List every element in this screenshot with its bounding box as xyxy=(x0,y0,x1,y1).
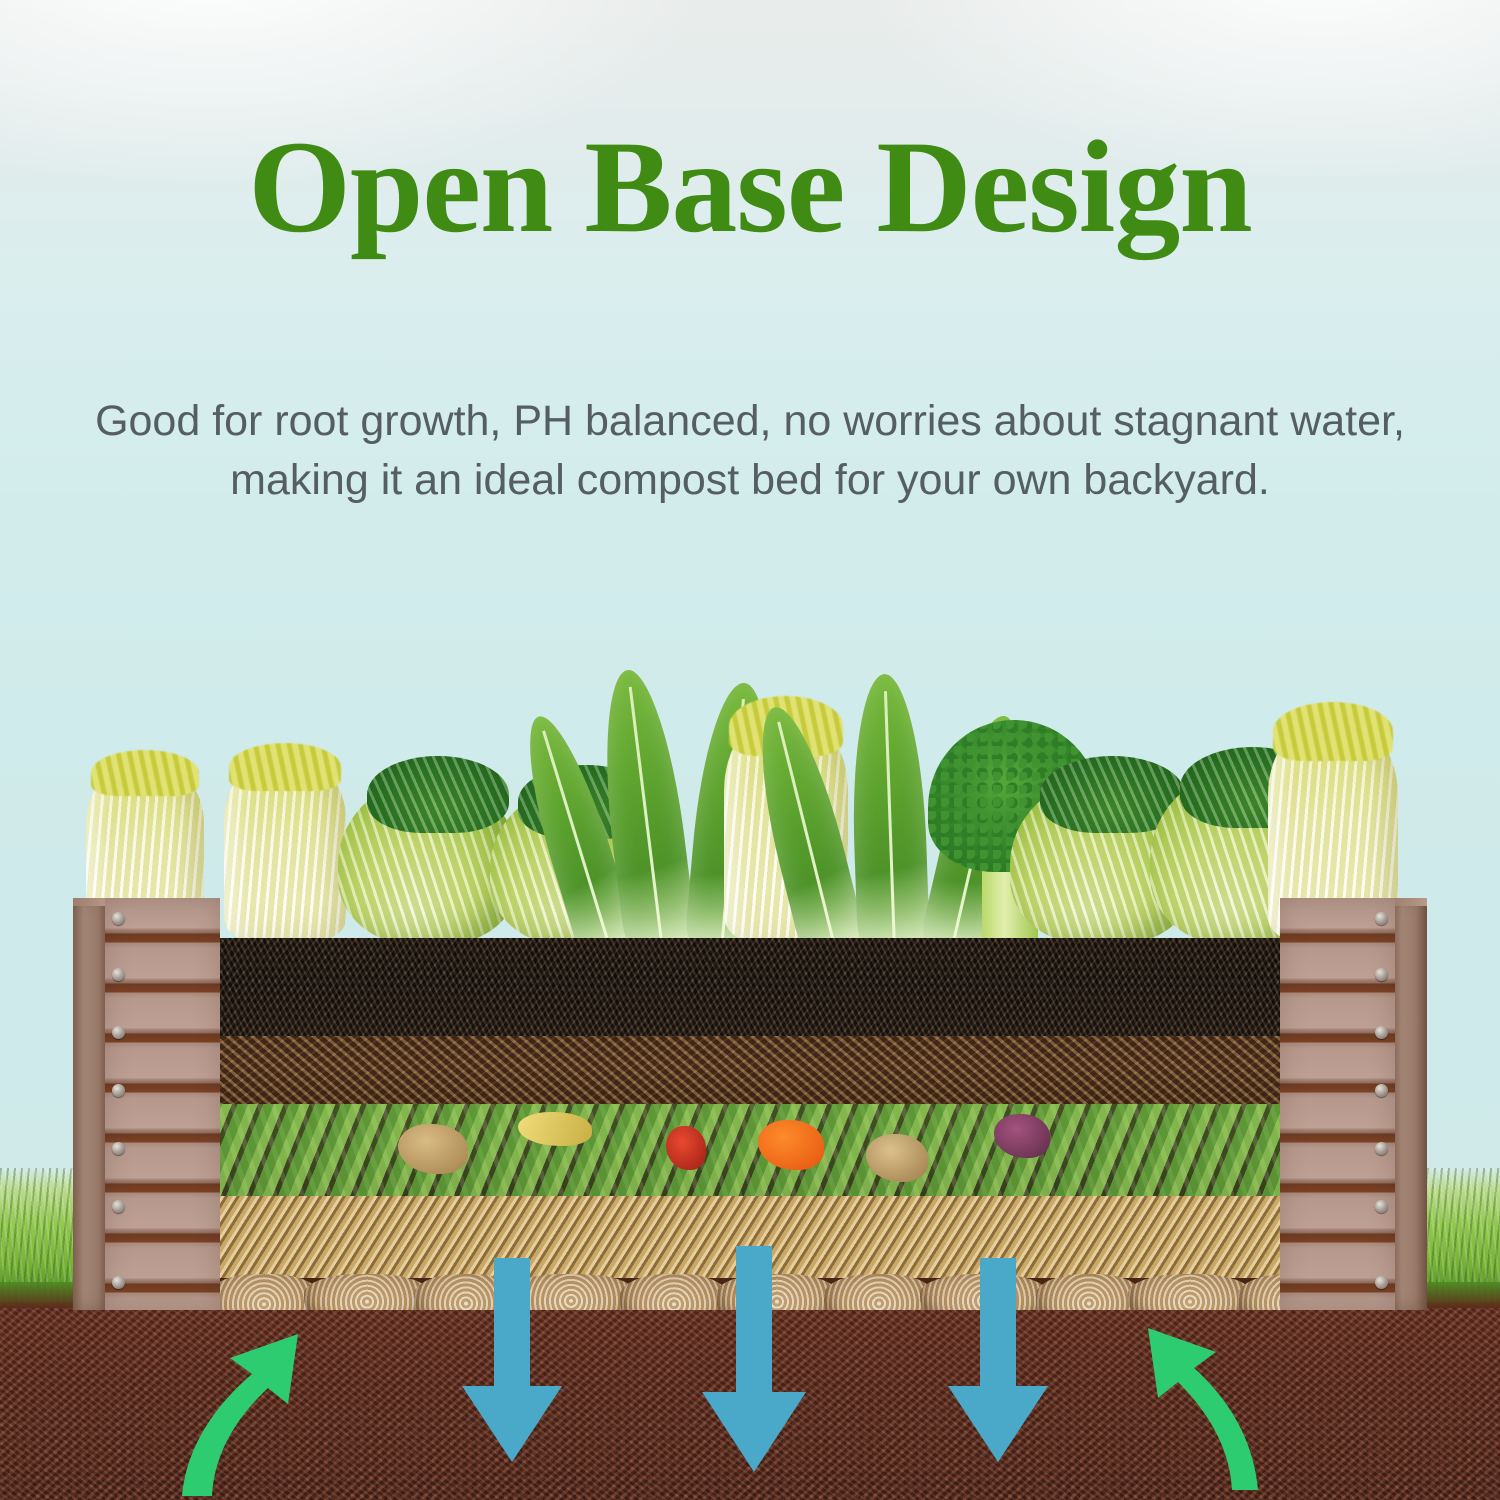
water-down-arrow-icon xyxy=(452,1258,572,1468)
page-subtitle: Good for root growth, PH balanced, no wo… xyxy=(70,392,1430,511)
product-name: metal raised garden bed xyxy=(0,898,1,899)
water-down-arrow-icon xyxy=(692,1246,816,1478)
screw-icon xyxy=(112,968,125,981)
screw-icon xyxy=(112,912,125,925)
screw-icon xyxy=(112,1084,125,1097)
scrap-potato xyxy=(866,1134,928,1182)
arrow-down-label: excess water drains down xyxy=(0,1280,1,1281)
arrow-up-label: nutrients and roots rise up xyxy=(0,1280,1,1281)
post-cap-right xyxy=(1391,898,1427,906)
screw-icon xyxy=(112,1200,125,1213)
vegetable-row-caption: row of leafy vegetables growing in the b… xyxy=(0,620,1,621)
nutrient-up-arrow-icon xyxy=(1112,1294,1282,1494)
subtitle-line-2: making it an ideal compost bed for your … xyxy=(70,451,1430,510)
screw-icon xyxy=(1375,912,1388,925)
screw-icon xyxy=(1375,1200,1388,1213)
water-down-arrow-icon xyxy=(938,1258,1058,1468)
scrap-onion xyxy=(994,1114,1050,1158)
post-cap-left xyxy=(73,898,109,906)
infographic-canvas: Open Base Design Good for root growth, P… xyxy=(0,0,1500,1500)
layer-bark-mulch: bark and wood chip mulch xyxy=(218,1036,1282,1104)
subtitle-line-1: Good for root growth, PH balanced, no wo… xyxy=(70,392,1430,451)
scrap-banana-peel xyxy=(518,1112,592,1146)
layer-kitchen-scraps: kitchen vegetable scraps xyxy=(218,1104,1282,1196)
screw-icon xyxy=(112,1142,125,1155)
bed-corner-post-left xyxy=(73,898,109,1310)
screw-icon xyxy=(1375,1026,1388,1039)
screw-icon xyxy=(1375,968,1388,981)
layer-compost: dark compost / topsoil xyxy=(218,938,1282,1036)
flow-arrow-group: nutrients and roots rise up excess water… xyxy=(0,1280,1500,1500)
screw-icon xyxy=(1375,1084,1388,1097)
screw-icon xyxy=(112,1026,125,1039)
screw-icon xyxy=(1375,1142,1388,1155)
screw-column-left xyxy=(112,898,136,1310)
bed-corner-post-right xyxy=(1391,898,1427,1310)
scrap-potato xyxy=(398,1124,468,1174)
nutrient-up-arrow-icon xyxy=(160,1300,340,1500)
scrap-pepper xyxy=(758,1120,824,1170)
page-title: Open Base Design xyxy=(0,118,1500,257)
scrap-tomato-skin xyxy=(666,1126,706,1170)
screw-column-right xyxy=(1364,898,1388,1310)
